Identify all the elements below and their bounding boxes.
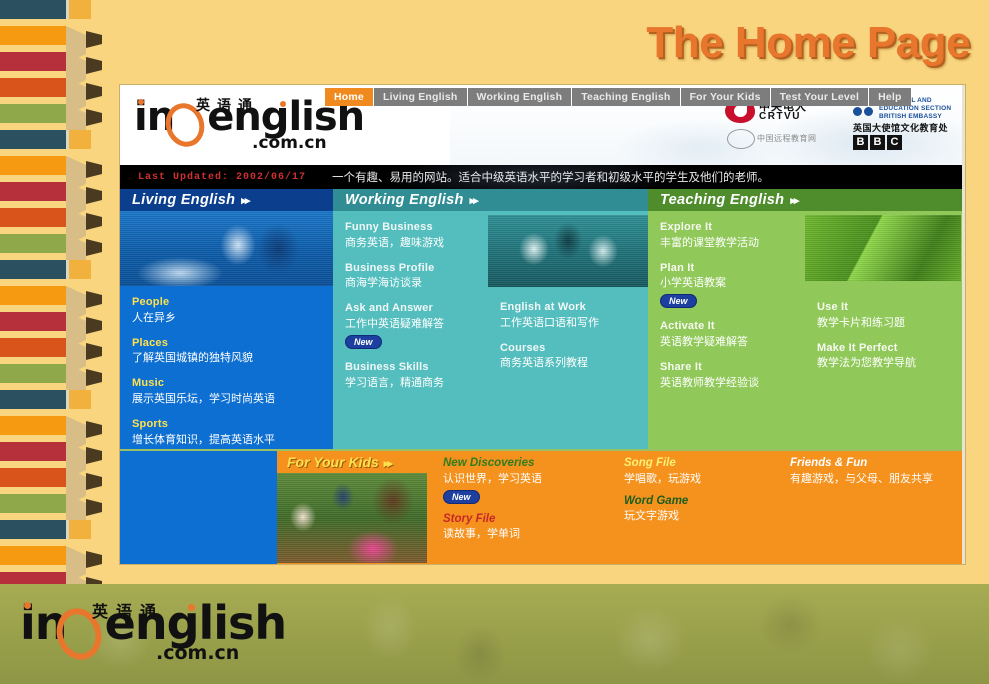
website-screenshot: inOenglish 英语通 .com.cn HomeLiving Englis… (120, 85, 965, 564)
pencil-icon (0, 386, 112, 412)
link-title: Funny Business (345, 221, 488, 235)
link-item[interactable]: Business Skills学习语言，精通商务 (345, 361, 488, 391)
link-item[interactable]: Ask and Answer工作中英语疑难解答New (345, 302, 488, 350)
category-columns: Living English▸▸ People人在异乡Places了解英国城镇的… (120, 189, 965, 449)
working-english-links-left: Funny Business商务英语，趣味游戏Business Profile商… (333, 211, 488, 390)
link-title: Places (132, 337, 333, 351)
pencil-icon (0, 22, 112, 48)
column-living-heading[interactable]: Living English▸▸ (120, 189, 333, 211)
link-subtitle: 商务英语系列教程 (500, 356, 648, 371)
link-title: Make It Perfect (817, 342, 965, 356)
pencil-icon (0, 464, 112, 490)
link-item[interactable]: Sports增长体育知识，提高英语水平 (132, 418, 333, 448)
nav-item-for-your-kids[interactable]: For Your Kids (681, 88, 771, 106)
pencil-icon (0, 204, 112, 230)
link-title: Music (132, 377, 333, 391)
last-updated-bar: Last Updated: 2002/06/17 一个有趣、易用的网站。适合中级… (120, 165, 965, 189)
nav-item-living-english[interactable]: Living English (374, 88, 468, 106)
teaching-english-links-left: Explore It丰富的课堂教学活动Plan It小学英语教案NewActiv… (648, 211, 805, 390)
link-title: Share It (660, 361, 805, 375)
link-item[interactable]: Business Profile商海学海访谈录 (345, 262, 488, 292)
link-subtitle: 玩文字游戏 (624, 509, 774, 524)
link-subtitle: 工作中英语疑难解答 (345, 317, 488, 332)
kids-left-spacer (120, 451, 277, 564)
kids-column-2: Song File学唱歌，玩游戏Word Game玩文字游戏 (608, 457, 774, 564)
pencil-icon (0, 126, 112, 152)
bbc-logo: B B C (853, 135, 902, 150)
column-working-heading[interactable]: Working English▸▸ (333, 189, 648, 211)
link-title: Sports (132, 418, 333, 432)
link-title: English at Work (500, 301, 648, 315)
pencil-icon (0, 412, 112, 438)
page-right-edge (962, 85, 965, 564)
pencil-icon (0, 542, 112, 568)
link-item[interactable]: Courses商务英语系列教程 (500, 342, 648, 372)
link-subtitle: 小学英语教案 (660, 276, 805, 291)
crtvu-globe-icon (727, 129, 755, 149)
link-subtitle: 学唱歌，玩游戏 (624, 472, 774, 487)
kids-photo (277, 473, 427, 563)
link-title: Word Game (624, 495, 774, 509)
kids-link-columns: New Discoveries认识世界，学习英语NewStory File读故事… (427, 451, 965, 564)
teaching-english-photo (805, 215, 961, 281)
nav-item-home[interactable]: Home (325, 88, 374, 106)
site-header: inOenglish 英语通 .com.cn HomeLiving Englis… (120, 85, 965, 165)
footer-band: inOenglish 英语通 .com.cn (0, 584, 989, 684)
nav-item-test-your-level[interactable]: Test Your Level (771, 88, 869, 106)
bbc-letter-b1: B (853, 135, 868, 150)
pencil-icon (0, 230, 112, 256)
link-subtitle: 工作英语口语和写作 (500, 316, 648, 331)
link-subtitle: 商务英语，趣味游戏 (345, 236, 488, 251)
link-subtitle: 人在异乡 (132, 311, 333, 326)
footer-logo-dot-left-icon (24, 602, 31, 609)
link-subtitle: 有趣游戏，与父母、朋友共享 (790, 472, 965, 487)
pencil-icon (0, 152, 112, 178)
footer-logo-dot-right-icon (188, 604, 195, 611)
link-subtitle: 教学法为您教学导航 (817, 356, 965, 371)
kids-column-3: Friends & Fun有趣游戏，与父母、朋友共享 (774, 457, 965, 564)
link-item[interactable]: Places了解英国城镇的独特风貌 (132, 337, 333, 367)
pencil-icon (0, 516, 112, 542)
pencil-icon (0, 490, 112, 516)
link-title: Courses (500, 342, 648, 356)
living-english-photo (120, 211, 333, 286)
pencil-icon (0, 282, 112, 308)
pencil-icon (0, 360, 112, 386)
link-subtitle: 增长体育知识，提高英语水平 (132, 433, 333, 448)
link-item[interactable]: Use It教学卡片和练习题 (817, 301, 965, 331)
last-updated-text: Last Updated: 2002/06/17 (138, 172, 306, 183)
logo-domain: .com.cn (252, 133, 327, 153)
nav-item-help[interactable]: Help (869, 88, 911, 106)
link-item[interactable]: Funny Business商务英语，趣味游戏 (345, 221, 488, 251)
column-living-english: Living English▸▸ People人在异乡Places了解英国城镇的… (120, 189, 333, 449)
link-title: Ask and Answer (345, 302, 488, 316)
link-subtitle: 学习语言，精通商务 (345, 376, 488, 391)
link-subtitle: 认识世界，学习英语 (443, 472, 608, 487)
pencil-icon (0, 308, 112, 334)
link-item[interactable]: People人在异乡 (132, 296, 333, 326)
link-item[interactable]: Song File学唱歌，玩游戏 (624, 457, 774, 487)
pencil-icon (0, 100, 112, 126)
arrows-icon: ▸▸ (470, 195, 477, 207)
column-teaching-heading[interactable]: Teaching English▸▸ (648, 189, 965, 211)
link-subtitle: 展示英国乐坛，学习时尚英语 (132, 392, 333, 407)
page-title: The Home Page (500, 18, 970, 68)
column-working-english: Working English▸▸ Funny Business商务英语，趣味游… (333, 189, 648, 449)
link-item[interactable]: Music展示英国乐坛，学习时尚英语 (132, 377, 333, 407)
link-title: Explore It (660, 221, 805, 235)
link-item[interactable]: English at Work工作英语口语和写作 (500, 301, 648, 331)
arrows-icon: ▸▸ (384, 458, 391, 470)
pencil-icon (0, 178, 112, 204)
kids-heading[interactable]: For Your Kids▸▸ (277, 451, 427, 473)
column-teaching-english: Teaching English▸▸ Explore It丰富的课堂教学活动Pl… (648, 189, 965, 449)
pencil-icon (0, 48, 112, 74)
pencil-icon (0, 438, 112, 464)
link-title: Business Skills (345, 361, 488, 375)
link-title: New Discoveries (443, 457, 608, 471)
main-navigation[interactable]: HomeLiving EnglishWorking EnglishTeachin… (325, 88, 911, 106)
living-english-links: People人在异乡Places了解英国城镇的独特风貌Music展示英国乐坛，学… (120, 286, 333, 449)
kids-column-1: New Discoveries认识世界，学习英语NewStory File读故事… (427, 457, 608, 564)
crtvu-sub: 中国远程教育网 (757, 133, 817, 144)
pencil-icon (0, 334, 112, 360)
link-item[interactable]: Activate It英语教学疑难解答 (660, 320, 805, 350)
footer-logo-wordmark: inOenglish (20, 600, 989, 646)
pencil-icon (0, 0, 112, 22)
link-item[interactable]: Story File读故事，学单词 (443, 513, 608, 543)
link-subtitle: 了解英国城镇的独特风貌 (132, 351, 333, 366)
bbc-letter-b2: B (870, 135, 885, 150)
link-item[interactable]: New Discoveries认识世界，学习英语New (443, 457, 608, 505)
link-title: Plan It (660, 262, 805, 276)
link-title: People (132, 296, 333, 310)
teaching-english-links-right: Use It教学卡片和练习题Make It Perfect教学法为您教学导航 (805, 281, 965, 371)
logo-chinese: 英语通 (196, 95, 259, 115)
link-item[interactable]: Make It Perfect教学法为您教学导航 (817, 342, 965, 372)
slide-canvas: The Home Page inOenglish 英语通 .com.cn Hom… (0, 0, 989, 684)
site-tagline: 一个有趣、易用的网站。适合中级英语水平的学习者和初级水平的学生及他们的老师。 (332, 169, 769, 185)
link-title: Story File (443, 513, 608, 527)
link-title: Activate It (660, 320, 805, 334)
link-item[interactable]: Word Game玩文字游戏 (624, 495, 774, 525)
british-council-chinese: 英国大使馆文化教育处 (853, 121, 948, 134)
link-title: Song File (624, 457, 774, 471)
new-badge: New (443, 490, 480, 504)
link-subtitle: 商海学海访谈录 (345, 276, 488, 291)
link-subtitle: 读故事，学单词 (443, 527, 608, 542)
link-item[interactable]: Explore It丰富的课堂教学活动 (660, 221, 805, 251)
new-badge: New (345, 335, 382, 349)
link-title: Use It (817, 301, 965, 315)
crtvu-english: CRTVU (759, 111, 801, 122)
link-subtitle: 英语教师教学经验谈 (660, 376, 805, 391)
section-for-your-kids: For Your Kids▸▸ New Discoveries认识世界，学习英语… (120, 449, 965, 564)
pencil-icon (0, 256, 112, 282)
link-item[interactable]: Plan It小学英语教案New (660, 262, 805, 310)
link-subtitle: 丰富的课堂教学活动 (660, 236, 805, 251)
footer-logo: inOenglish 英语通 .com.cn (20, 600, 989, 646)
footer-logo-domain: .com.cn (156, 642, 239, 664)
link-item[interactable]: Friends & Fun有趣游戏，与父母、朋友共享 (790, 457, 965, 487)
link-subtitle: 教学卡片和练习题 (817, 316, 965, 331)
arrows-icon: ▸▸ (241, 195, 248, 207)
logo-dot-right-icon (280, 101, 286, 107)
link-item[interactable]: Share It英语教师教学经验谈 (660, 361, 805, 391)
new-badge: New (660, 294, 697, 308)
pencil-icon (0, 74, 112, 100)
working-english-photo (488, 215, 648, 287)
footer-logo-chinese: 英语通 (92, 598, 164, 622)
pencil-icon (0, 568, 112, 584)
nav-item-teaching-english[interactable]: Teaching English (572, 88, 680, 106)
nav-item-working-english[interactable]: Working English (468, 88, 573, 106)
link-subtitle: 英语教学疑难解答 (660, 335, 805, 350)
working-english-links-right: English at Work工作英语口语和写作Courses商务英语系列教程 (488, 287, 648, 371)
arrows-icon: ▸▸ (790, 195, 797, 207)
link-title: Friends & Fun (790, 457, 965, 471)
logo-dot-left-icon (138, 99, 144, 105)
link-title: Business Profile (345, 262, 488, 276)
pencil-decoration-strip (0, 0, 120, 584)
bbc-letter-c: C (887, 135, 902, 150)
kids-photo-block: For Your Kids▸▸ (277, 451, 427, 564)
